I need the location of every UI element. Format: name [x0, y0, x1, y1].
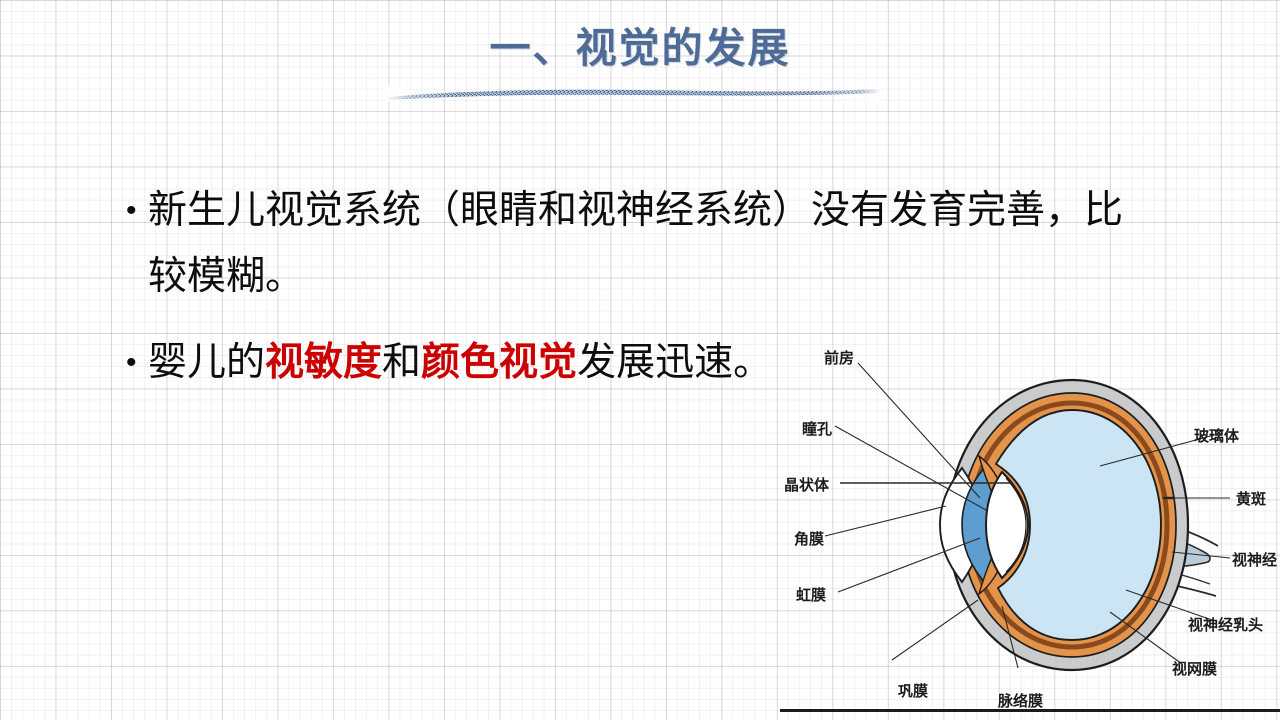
eye-label-lens: 晶状体: [784, 476, 830, 494]
eye-label-macula: 黄斑: [1236, 490, 1266, 508]
bullet-2-run-middle: 和: [382, 341, 421, 384]
eye-label-pupil: 瞳孔: [802, 420, 832, 438]
eye-label-optic-nerve: 视神经: [1232, 551, 1277, 569]
title-underline-brush: [386, 86, 882, 101]
highlight-color-vision: 颜色视觉: [421, 341, 577, 384]
eye-anatomy-diagram: 前房 瞳孔 晶状体 角膜 虹膜 玻璃体 黄斑 视神经 视神经乳头 视网膜 巩膜 …: [780, 338, 1280, 712]
title-block: 一、视觉的发展: [330, 24, 950, 72]
eye-label-sclera: 巩膜: [898, 682, 928, 700]
bullet-marker: •: [126, 330, 148, 396]
eye-label-cornea: 角膜: [794, 530, 824, 548]
bullet-1-text: 新生儿视觉系统（眼睛和视神经系统）没有发育完善，比较模糊。: [148, 178, 1148, 310]
eye-label-retina: 视网膜: [1172, 660, 1217, 678]
bullet-2-run-prefix: 婴儿的: [148, 341, 265, 384]
eye-label-choroid: 脉络膜: [997, 692, 1043, 710]
bullet-marker: •: [126, 178, 148, 244]
eye-label-optic-disc: 视神经乳头: [1188, 616, 1263, 634]
eye-anatomy-figure: 前房 瞳孔 晶状体 角膜 虹膜 玻璃体 黄斑 视神经 视神经乳头 视网膜 巩膜 …: [780, 338, 1280, 712]
highlight-visual-acuity: 视敏度: [265, 341, 382, 384]
eye-label-iris: 虹膜: [796, 586, 826, 604]
bullet-1-run-1: 新生儿视觉系统（眼睛和视神经系统）没有发育完善，比较模糊。: [148, 189, 1123, 298]
slide-canvas: 一、视觉的发展: [0, 0, 1280, 720]
eye-label-vitreous-body: 玻璃体: [1194, 427, 1240, 445]
list-item: • 新生儿视觉系统（眼睛和视神经系统）没有发育完善，比较模糊。: [126, 178, 1156, 310]
eye-label-anterior-chamber: 前房: [824, 349, 854, 367]
page-title: 一、视觉的发展: [330, 24, 950, 72]
bullet-2-run-suffix: 发展迅速。: [577, 341, 772, 384]
